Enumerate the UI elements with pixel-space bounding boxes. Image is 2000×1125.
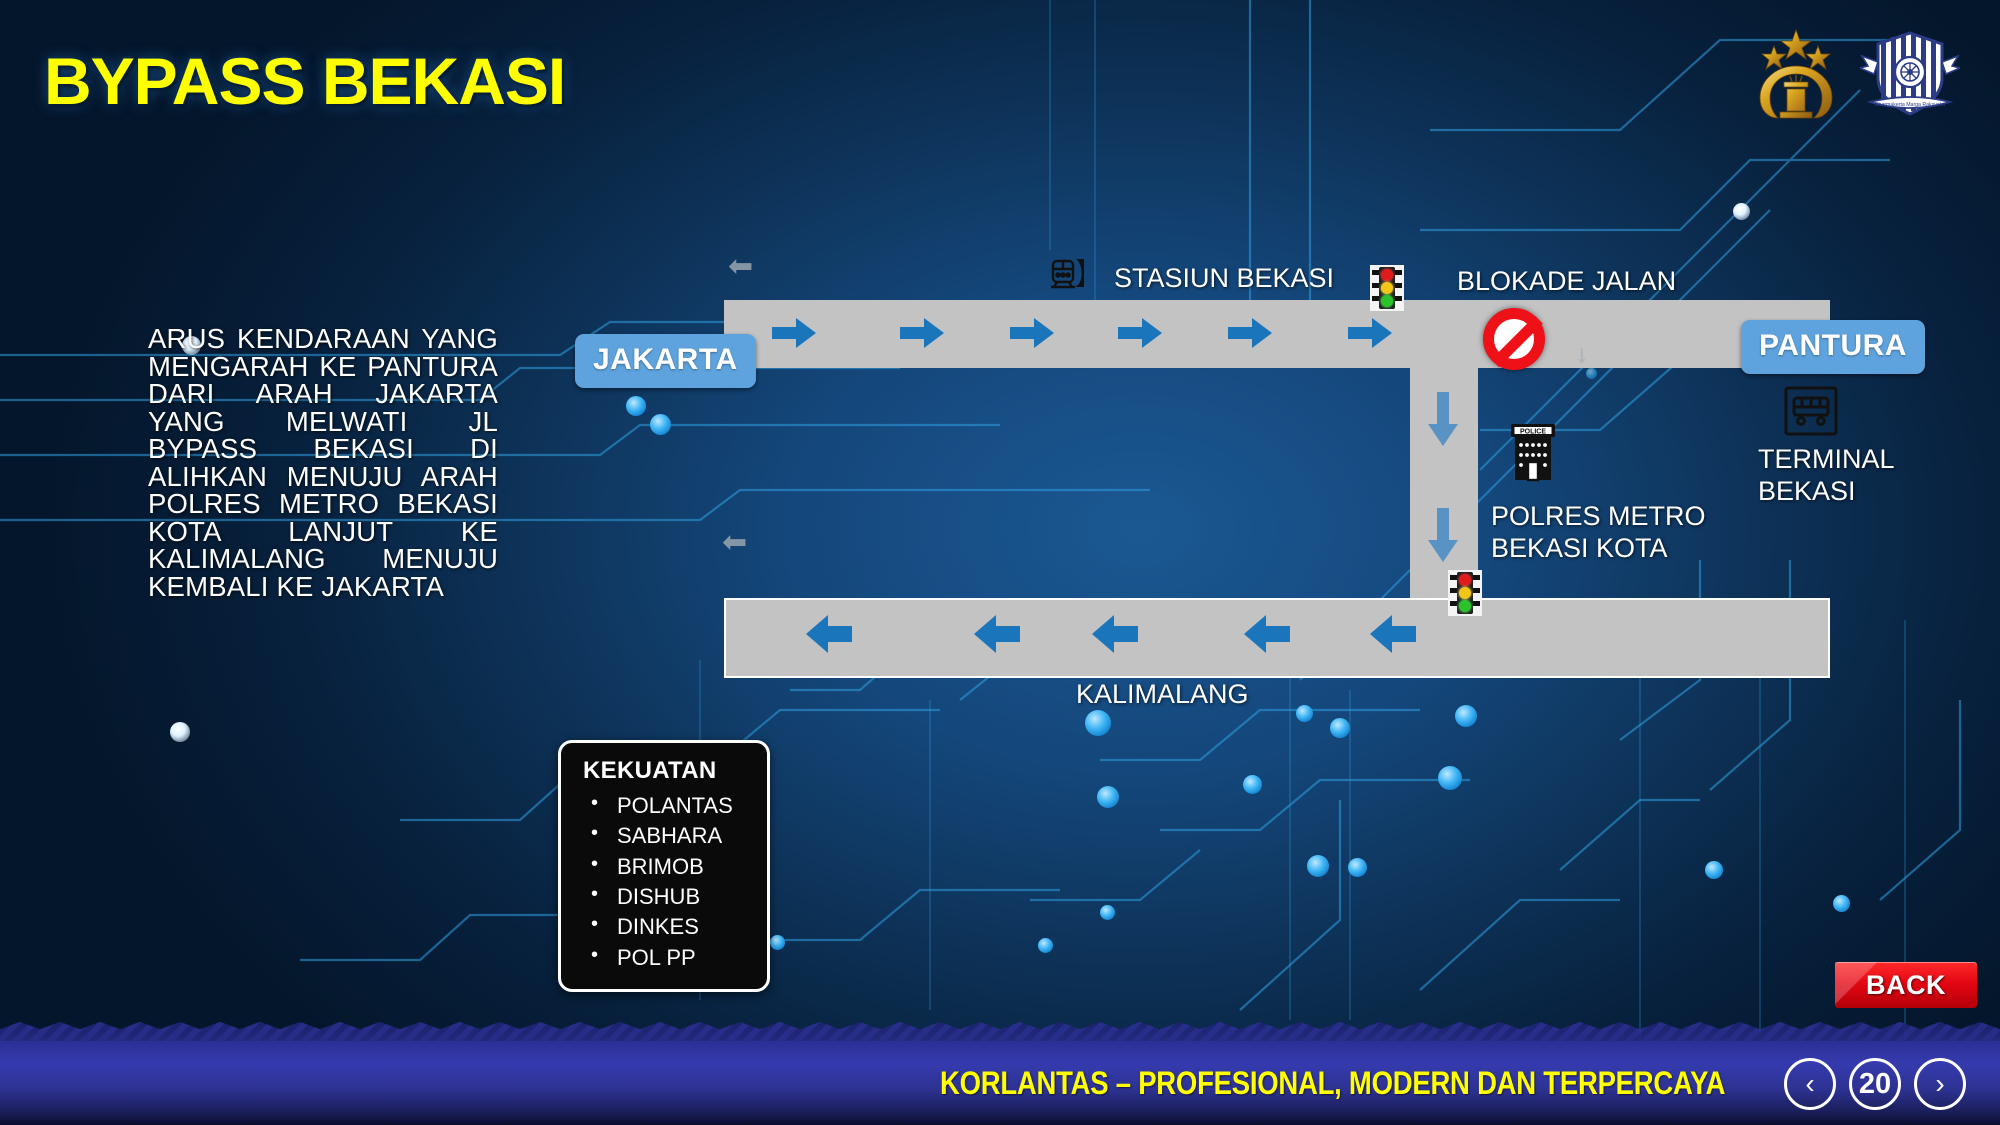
tag-jakarta[interactable]: JAKARTA (575, 334, 756, 388)
circuit-node (1296, 705, 1313, 722)
prev-slide-button[interactable]: ‹ (1784, 1058, 1836, 1110)
circuit-node (1348, 858, 1367, 877)
decor-arrow-west-icon: ⬅ (722, 528, 747, 558)
back-button[interactable]: BACK (1835, 962, 1977, 1008)
circuit-node (650, 414, 671, 435)
svg-text:Dharmakerta Marga Raksyaka: Dharmakerta Marga Raksyaka (1875, 102, 1945, 108)
arrow-east-icon (1228, 316, 1272, 350)
page-title: BYPASS BEKASI (44, 48, 565, 114)
circuit-node-bright (170, 722, 190, 742)
arrow-west-icon (972, 612, 1020, 656)
slide-canvas: BYPASS BEKASI (0, 0, 2000, 1125)
description-text: ARUS KENDARAAN YANG MENGARAH KE PANTURA … (148, 325, 498, 600)
circuit-node (770, 935, 785, 950)
label-polres-metro-bekasi-kota: POLRES METRO BEKASI KOTA (1491, 500, 1706, 565)
list-item: POL PP (587, 943, 767, 973)
arrow-south-icon (1426, 508, 1460, 564)
circuit-node (1243, 775, 1262, 794)
bus-terminal-icon (1783, 385, 1839, 437)
svg-text:POLICE: POLICE (1520, 428, 1546, 435)
label-kalimalang: KALIMALANG (1076, 678, 1249, 710)
footer-bar: KORLANTAS – PROFESIONAL, MODERN DAN TERP… (0, 1041, 2000, 1125)
arrow-west-icon (1090, 612, 1138, 656)
traffic-light-icon (1448, 570, 1482, 616)
list-item: BRIMOB (587, 852, 767, 882)
circuit-node (1438, 766, 1462, 790)
polri-emblem-icon (1750, 26, 1842, 127)
circuit-node (626, 396, 646, 416)
road-bypass-eastbound (724, 300, 1830, 368)
next-slide-button[interactable]: › (1914, 1058, 1966, 1110)
logo-group: Dharmakerta Marga Raksyaka (1750, 26, 1960, 127)
circuit-node (1330, 718, 1350, 738)
description-body: ARUS KENDARAAN YANG MENGARAH KE PANTURA … (148, 323, 498, 602)
tag-pantura[interactable]: PANTURA (1741, 320, 1925, 374)
circuit-node (1307, 855, 1329, 877)
korlantas-emblem-icon: Dharmakerta Marga Raksyaka (1860, 28, 1960, 125)
circuit-node-bright (1733, 203, 1750, 220)
traffic-light-icon (1370, 265, 1404, 311)
circuit-node (1455, 705, 1477, 727)
arrow-east-icon (1118, 316, 1162, 350)
arrow-east-icon (1348, 316, 1392, 350)
blockade-no-entry-icon (1483, 308, 1545, 370)
arrow-east-icon (900, 316, 944, 350)
kekuatan-title: KEKUATAN (583, 757, 767, 785)
list-item: SABHARA (587, 821, 767, 851)
label-blokade-jalan: BLOKADE JALAN (1457, 265, 1676, 297)
list-item: DINKES (587, 912, 767, 942)
arrow-east-icon (772, 316, 816, 350)
decor-arrow-west-icon: ⬅ (728, 252, 753, 282)
circuit-node (1705, 861, 1723, 879)
arrow-south-icon (1426, 392, 1460, 448)
police-station-icon: POLICE (1502, 422, 1564, 482)
list-item: DISHUB (587, 882, 767, 912)
circuit-node (1833, 895, 1850, 912)
kekuatan-panel: KEKUATAN POLANTAS SABHARA BRIMOB DISHUB … (558, 740, 770, 992)
circuit-node (1586, 368, 1597, 379)
circuit-node (1097, 786, 1119, 808)
circuit-node (1085, 710, 1111, 736)
slide-number-badge: 20 (1849, 1058, 1901, 1110)
kekuatan-list: POLANTAS SABHARA BRIMOB DISHUB DINKES PO… (587, 791, 767, 973)
circuit-node (1038, 938, 1053, 953)
arrow-west-icon (804, 612, 852, 656)
footer-zigzag-divider (0, 1019, 2000, 1043)
footer-tagline: KORLANTAS – PROFESIONAL, MODERN DAN TERP… (940, 1065, 1725, 1102)
list-item: POLANTAS (587, 791, 767, 821)
train-station-icon (1046, 252, 1090, 296)
label-terminal-bekasi: TERMINAL BEKASI (1758, 443, 1895, 508)
decor-arrow-south-icon: ⭣ (1577, 345, 1587, 367)
circuit-node (1100, 905, 1115, 920)
arrow-east-icon (1010, 316, 1054, 350)
arrow-west-icon (1242, 612, 1290, 656)
arrow-west-icon (1368, 612, 1416, 656)
label-stasiun-bekasi: STASIUN BEKASI (1114, 262, 1334, 294)
